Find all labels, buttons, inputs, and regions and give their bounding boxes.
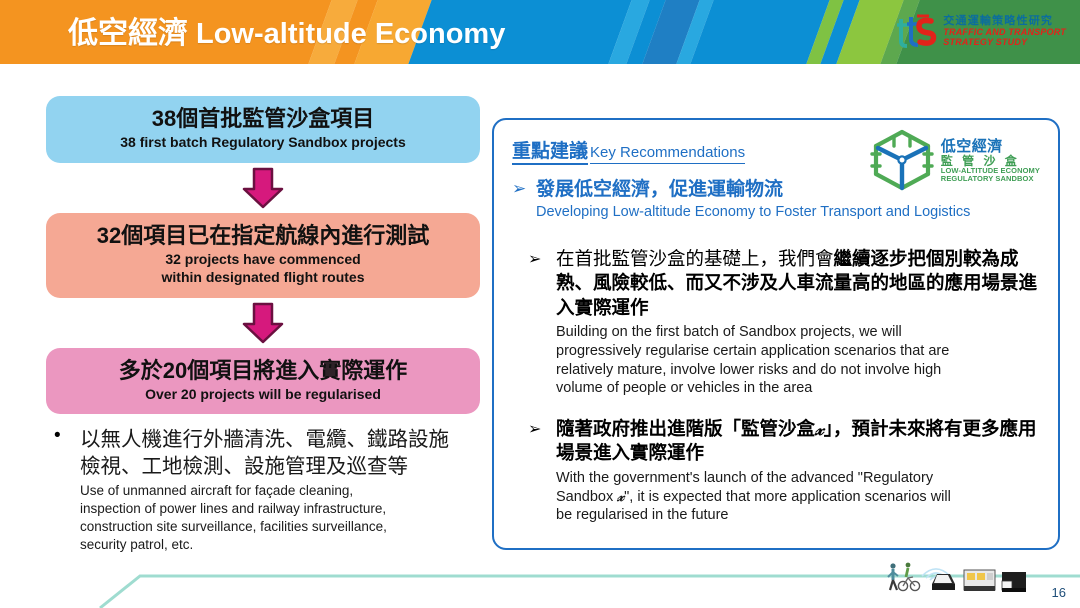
flow-box-1-cn: 38個首批監管沙盒項目 [54, 105, 472, 133]
flow-box-commenced: 32個項目已在指定航線內進行測試 32 projects have commen… [46, 213, 480, 298]
left-bullet-cn-line1: 以無人機進行外牆清洗、電纜、鐵路設施 [80, 426, 480, 453]
left-bullet-en-line1: Use of unmanned aircraft for façade clea… [80, 482, 480, 500]
tts-logo-cn: 交通運輸策略性研究 [943, 15, 1066, 27]
key-recommendations-heading: 重點建議Key Recommendations [512, 136, 745, 163]
kr-subheading-cn: 發展低空經濟，促進運輸物流 [536, 178, 783, 202]
transport-mode-icons [884, 556, 1034, 598]
kr-subheading: ➢ 發展低空經濟，促進運輸物流 Developing Low-altitude … [512, 178, 1032, 221]
kr-heading-cn: 重點建議 [512, 141, 588, 165]
left-bullet-en: Use of unmanned aircraft for façade clea… [80, 482, 480, 554]
recommendation-2-body: 隨著政府推出進階版「監管沙盒𝓍」，預計未來將有更多應用場景進入實際運作 With… [556, 418, 1044, 525]
flow-box-2-en-line1: 32 projects have commenced [54, 251, 472, 269]
left-bullet-item: • 以無人機進行外牆清洗、電纜、鐵路設施 檢視、工地檢測、設施管理及巡查等 Us… [46, 426, 480, 553]
tts-logo-en1: TRAFFIC AND TRANSPORT [943, 27, 1066, 37]
sandbox-logo-text: 低空經濟 監 管 沙 盒 LOW-ALTITUDE ECONOMY REGULA… [941, 139, 1040, 183]
recommendation-1-cn-light: 在首批監管沙盒的基礎上，我們會 [556, 249, 834, 270]
recommendation-2-en: With the government's launch of the adva… [556, 469, 1044, 525]
recommendation-1-en-line2: progressively regularise certain applica… [556, 342, 1044, 361]
bus-icon [964, 570, 995, 591]
key-recommendations-panel: 重點建議Key Recommendations [492, 118, 1060, 550]
truck-icon [1002, 572, 1026, 592]
recommendation-1-en-line4: volume of people or vehicles in the area [556, 379, 1044, 398]
recommendation-2-en-post: ", it is expected that more application … [624, 489, 951, 505]
sandbox-logo-cn1: 低空經濟 [941, 139, 1040, 155]
down-arrow-icon [240, 167, 286, 209]
recommendation-item-1: ➢ 在首批監管沙盒的基礎上，我們會繼續逐步把個別較為成熟、風險較低、而又不涉及人… [528, 248, 1044, 398]
tts-logo-text: 交通運輸策略性研究 TRAFFIC AND TRANSPORT STRATEGY… [943, 15, 1066, 47]
left-bullet-cn-line2: 檢視、工地檢測、設施管理及巡查等 [80, 453, 480, 480]
flow-arrow-1-wrap [46, 163, 480, 213]
arrow-bullet-icon: ➢ [512, 178, 536, 202]
left-column: 38個首批監管沙盒項目 38 first batch Regulatory Sa… [46, 96, 480, 554]
tts-logo-en2: STRATEGY STUDY [943, 37, 1066, 47]
recommendation-2-en-line1: With the government's launch of the adva… [556, 469, 1044, 488]
recommendation-2-cn: 隨著政府推出進階版「監管沙盒𝓍」，預計未來將有更多應用場景進入實際運作 [556, 418, 1044, 467]
recommendation-item-2: ➢ 隨著政府推出進階版「監管沙盒𝓍」，預計未來將有更多應用場景進入實際運作 Wi… [528, 418, 1044, 525]
kr-subheading-en: Developing Low-altitude Economy to Foste… [536, 203, 1032, 221]
page-number: 16 [1052, 585, 1066, 600]
recommendation-1-cn: 在首批監管沙盒的基礎上，我們會繼續逐步把個別較為成熟、風險較低、而又不涉及人車流… [556, 248, 1044, 321]
recommendation-1-en-line3: relatively mature, involve lower risks a… [556, 361, 1044, 380]
flow-box-2-cn: 32個項目已在指定航線內進行測試 [54, 222, 472, 250]
page-title-en: Low-altitude Economy [196, 18, 505, 50]
flow-box-regularised: 多於20個項目將進入實際運作 Over 20 projects will be … [46, 348, 480, 415]
recommendation-1-en-line1: Building on the first batch of Sandbox p… [556, 323, 1044, 342]
flow-box-3-en: Over 20 projects will be regularised [54, 386, 472, 404]
kr-heading-en: Key Recommendations [590, 144, 745, 164]
recommendation-2-en-line3: be regularised in the future [556, 506, 1044, 525]
recommendation-1-body: 在首批監管沙盒的基礎上，我們會繼續逐步把個別較為成熟、風險較低、而又不涉及人車流… [556, 248, 1044, 398]
page-title-cn: 低空經濟 [68, 17, 188, 50]
arrow-bullet-icon: ➢ [528, 248, 556, 398]
bullet-marker: • [54, 426, 80, 553]
recommendation-1-en: Building on the first batch of Sandbox p… [556, 323, 1044, 398]
recommendation-2-cn-x: 𝓍 [815, 420, 824, 440]
recommendation-2-en-line2: Sandbox 𝓍", it is expected that more app… [556, 488, 1044, 507]
left-bullet-body: 以無人機進行外牆清洗、電纜、鐵路設施 檢視、工地檢測、設施管理及巡查等 Use … [80, 426, 480, 553]
flow-box-2-en-line2: within designated flight routes [54, 269, 472, 287]
transport-icons-group [884, 556, 1034, 598]
tts-logo: 交通運輸策略性研究 TRAFFIC AND TRANSPORT STRATEGY… [895, 11, 1066, 51]
arrow-bullet-icon: ➢ [528, 418, 556, 525]
recommendation-2-en-mid: Sandbox [556, 489, 617, 505]
flow-box-first-batch: 38個首批監管沙盒項目 38 first batch Regulatory Sa… [46, 96, 480, 163]
tts-logo-icon [895, 11, 937, 51]
pedestrian-icon [888, 563, 898, 590]
left-bullet-cn: 以無人機進行外牆清洗、電纜、鐵路設施 檢視、工地檢測、設施管理及巡查等 [80, 426, 480, 479]
left-bullet-en-line4: security patrol, etc. [80, 536, 480, 554]
kr-subheading-row: ➢ 發展低空經濟，促進運輸物流 [512, 178, 1032, 202]
recommendation-2-cn-pre: 隨著政府推出進階版「監管沙盒 [556, 419, 815, 440]
page-title: 低空經濟Low-altitude Economy [68, 8, 505, 52]
flow-box-1-en: 38 first batch Regulatory Sandbox projec… [54, 134, 472, 152]
left-bullet-en-line2: inspection of power lines and railway in… [80, 500, 480, 518]
cyclist-icon [898, 563, 919, 591]
flow-arrow-2-wrap [46, 298, 480, 348]
down-arrow-icon [240, 302, 286, 344]
left-bullet-en-line3: construction site surveillance, faciliti… [80, 518, 480, 536]
flow-box-3-cn: 多於20個項目將進入實際運作 [54, 357, 472, 385]
